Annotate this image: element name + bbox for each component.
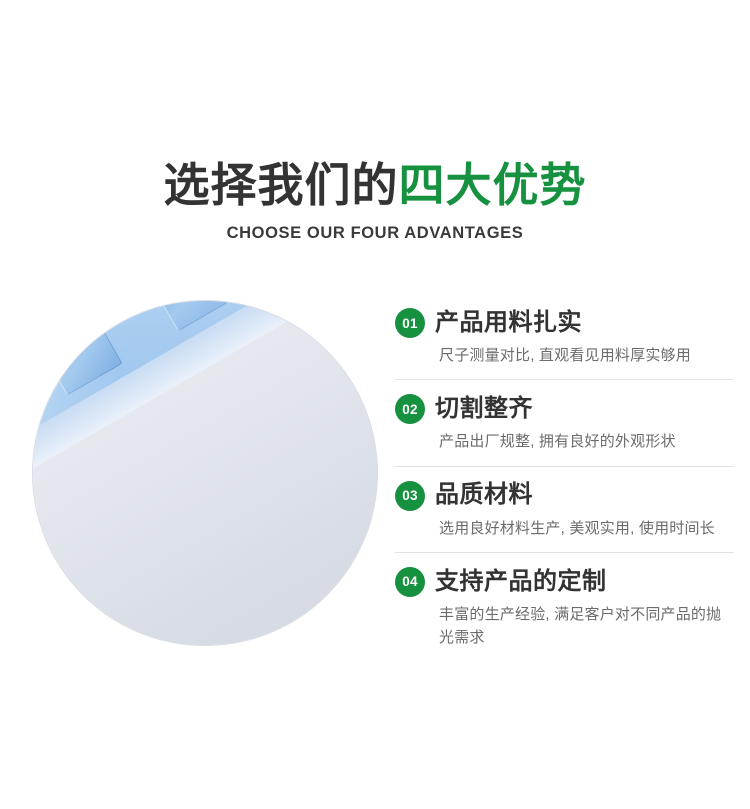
feature-header: 01 产品用料扎实	[395, 308, 734, 338]
advantages-list: 01 产品用料扎实 尺子测量对比, 直观看见用料厚实够用 02 切割整齐 产品出…	[395, 300, 734, 661]
list-item: 03 品质材料 选用良好材料生产, 美观实用, 使用时间长	[395, 466, 734, 552]
page-subtitle: CHOOSE OUR FOUR ADVANTAGES	[0, 224, 750, 243]
status-badge: 03	[395, 481, 425, 511]
list-item: 02 切割整齐 产品出厂规整, 拥有良好的外观形状	[395, 379, 734, 465]
page-title-accent: 四大优势	[399, 159, 587, 211]
status-badge: 02	[395, 394, 425, 424]
feature-description: 选用良好材料生产, 美观实用, 使用时间长	[439, 517, 734, 540]
product-photo-circle	[32, 300, 378, 646]
feature-description: 丰富的生产经验, 满足客户对不同产品的抛光需求	[439, 603, 734, 650]
page-header: 选择我们的四大优势 CHOOSE OUR FOUR ADVANTAGES	[0, 160, 750, 243]
feature-description: 产品出厂规整, 拥有良好的外观形状	[439, 430, 734, 453]
status-badge: 01	[395, 308, 425, 338]
feature-title: 产品用料扎实	[435, 310, 582, 336]
list-item: 01 产品用料扎实 尺子测量对比, 直观看见用料厚实够用	[395, 300, 734, 379]
status-badge: 04	[395, 567, 425, 597]
list-item: 04 支持产品的定制 丰富的生产经验, 满足客户对不同产品的抛光需求	[395, 552, 734, 662]
feature-header: 04 支持产品的定制	[395, 567, 734, 597]
page-title-primary: 选择我们的	[164, 159, 399, 211]
feature-header: 03 品质材料	[395, 481, 734, 511]
feature-title: 切割整齐	[435, 396, 533, 422]
feature-title: 品质材料	[435, 482, 533, 508]
feature-header: 02 切割整齐	[395, 394, 734, 424]
feature-description: 尺子测量对比, 直观看见用料厚实够用	[439, 344, 734, 367]
feature-title: 支持产品的定制	[435, 569, 607, 595]
page-title: 选择我们的四大优势	[0, 160, 750, 212]
